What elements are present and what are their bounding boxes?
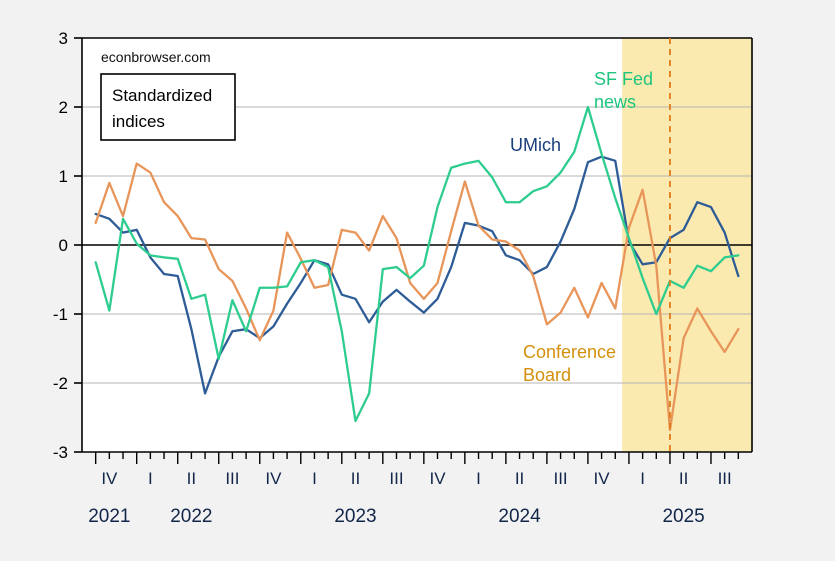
annotation-sf-fed-news: SF Fed	[594, 69, 653, 89]
x-quarter-label: III	[553, 469, 567, 488]
x-quarter-label: IV	[101, 469, 118, 488]
chart-figure: -3-2-10123 IVIIIIIIIVIIIIIIIVIIIIIIIVIII…	[0, 0, 835, 561]
line-chart-svg: -3-2-10123 IVIIIIIIIVIIIIIIIVIIIIIIIVIII…	[0, 0, 835, 561]
x-quarter-label: III	[225, 469, 239, 488]
x-year-label: 2023	[334, 506, 376, 527]
y-tick-label: 1	[59, 167, 68, 186]
x-quarter-label: IV	[265, 469, 282, 488]
annotation-umich: UMich	[510, 135, 561, 155]
x-year-label: 2022	[170, 506, 212, 527]
x-year-label: 2025	[662, 506, 704, 527]
y-tick-label: 0	[59, 236, 68, 255]
watermark-label: econbrowser.com	[101, 49, 211, 65]
y-tick-label: -2	[53, 374, 68, 393]
x-quarter-label: IV	[594, 469, 611, 488]
x-quarter-label: I	[640, 469, 645, 488]
x-year-label: 2021	[88, 506, 130, 527]
x-quarter-label: II	[351, 469, 360, 488]
annotation-conference-board: Conference	[523, 342, 616, 362]
x-quarter-label: I	[312, 469, 317, 488]
x-quarter-label: IV	[429, 469, 446, 488]
x-quarter-label: II	[679, 469, 688, 488]
x-quarter-label: I	[476, 469, 481, 488]
legend-box-line2: indices	[112, 112, 165, 131]
legend-box: Standardizedindices	[101, 74, 235, 140]
x-quarter-label: III	[718, 469, 732, 488]
x-quarter-label: I	[148, 469, 153, 488]
x-quarter-label: II	[187, 469, 196, 488]
x-quarter-label: II	[515, 469, 524, 488]
y-tick-label: 3	[59, 29, 68, 48]
x-year-label: 2024	[498, 506, 541, 527]
y-tick-label: -1	[53, 305, 68, 324]
annotation-sf-fed-news: news	[594, 92, 636, 112]
y-tick-label: -3	[53, 443, 68, 462]
y-tick-label: 2	[59, 98, 68, 117]
annotation-conference-board: Board	[523, 365, 571, 385]
x-quarter-label: III	[389, 469, 403, 488]
legend-box-line1: Standardized	[112, 86, 212, 105]
